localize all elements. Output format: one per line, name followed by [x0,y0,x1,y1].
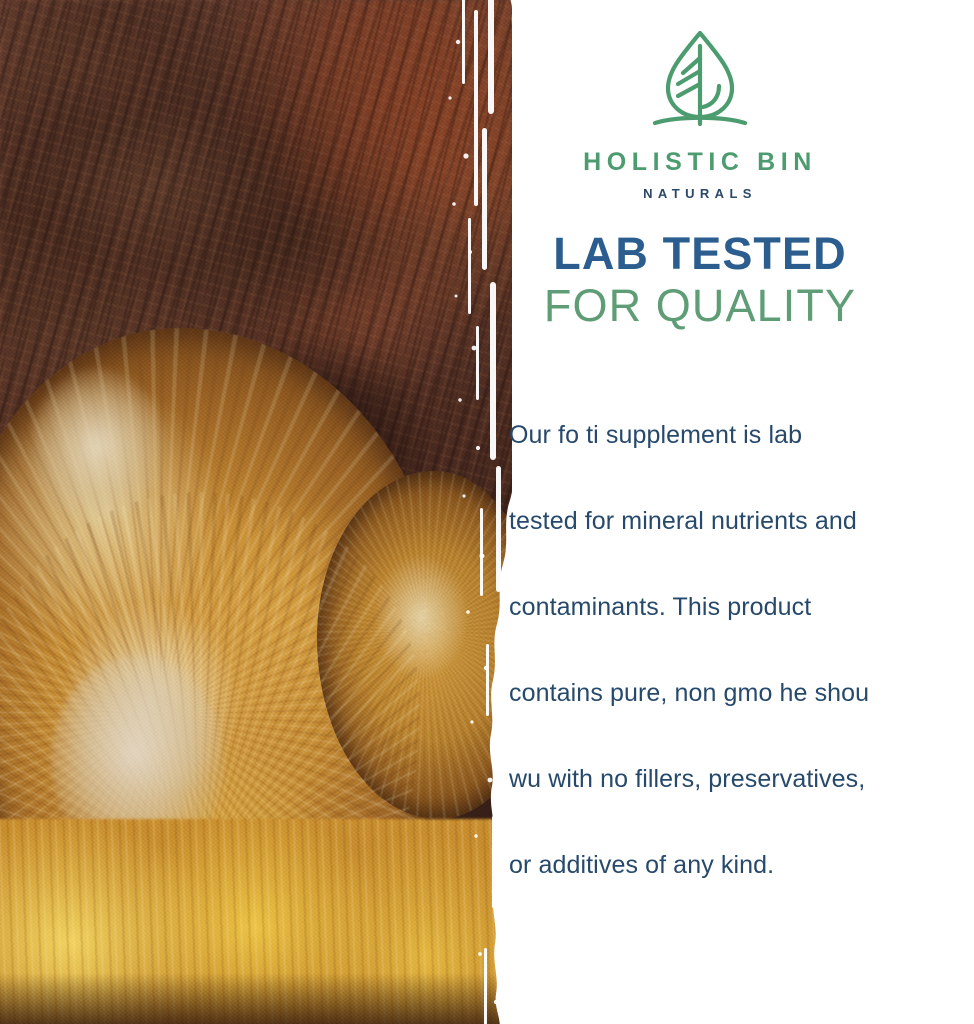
body-line: contaminants. This product [509,564,974,650]
leaf-icon [642,24,758,132]
headline-line-1: LAB TESTED [490,230,910,278]
product-photo [0,0,512,1024]
headline-line-2: FOR QUALITY [490,282,910,330]
body-line: contains pure, non gmo he shou [509,650,974,736]
photo-grain-overlay [0,0,512,1024]
body-line: Our fo ti supplement is lab [509,392,974,478]
content-column: HOLISTIC BIN NATURALS LAB TESTED FOR QUA… [490,0,974,1024]
body-line: or additives of any kind. [509,822,974,908]
brand-name: HOLISTIC BIN [490,148,910,177]
body-line: wu with no fillers, preservatives, [509,736,974,822]
headline-block: LAB TESTED FOR QUALITY [490,230,910,329]
body-line: tested for mineral nutrients and [509,478,974,564]
brand-logo-block: HOLISTIC BIN NATURALS [490,24,910,201]
brand-tagline: NATURALS [490,186,910,201]
promo-graphic-canvas: HOLISTIC BIN NATURALS LAB TESTED FOR QUA… [0,0,974,1024]
body-copy-block: Our fo ti supplement is lab tested for m… [509,392,974,908]
